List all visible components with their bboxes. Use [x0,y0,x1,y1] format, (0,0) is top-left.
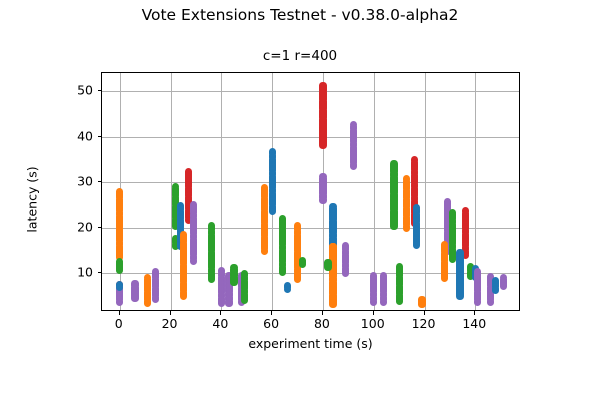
y-tick-label: 20 [68,219,93,234]
gridline-y [102,137,519,138]
x-tick-mark [271,311,272,315]
x-tick-label: 120 [412,316,436,331]
gridline-x [425,73,426,310]
plot-area [101,72,520,311]
y-tick-mark [98,227,102,228]
x-tick-label: 140 [462,316,486,331]
data-point [324,263,331,270]
data-point [342,270,349,277]
data-point [390,223,397,230]
y-tick-label: 10 [68,265,93,280]
x-tick-label: 0 [115,316,123,331]
data-point [152,296,159,303]
data-point [279,269,286,276]
data-point [329,301,336,308]
data-point [350,163,357,170]
data-point [116,299,123,306]
chart-subtitle: c=1 r=400 [0,48,600,64]
x-tick-label: 40 [212,316,228,331]
x-tick-mark [170,311,171,315]
x-tick-mark [424,311,425,315]
y-tick-mark [98,181,102,182]
data-point [131,295,138,302]
y-tick-label: 50 [68,83,93,98]
data-point [190,258,197,265]
data-point [441,275,448,282]
chart-title: Vote Extensions Testnet - v0.38.0-alpha2 [0,6,600,24]
x-tick-mark [322,311,323,315]
x-axis-label: experiment time (s) [101,336,520,351]
data-point [241,297,248,304]
x-tick-mark [119,311,120,315]
data-point [492,287,499,294]
data-point [500,282,507,289]
data-point [319,141,326,148]
data-point [284,286,291,293]
x-tick-label: 80 [314,316,330,331]
x-tick-mark [474,311,475,315]
data-point [380,299,387,306]
y-tick-label: 40 [68,128,93,143]
data-point [299,261,306,268]
x-tick-label: 60 [263,316,279,331]
data-point [261,248,268,255]
y-axis-label: latency (s) [25,130,40,270]
x-tick-label: 20 [162,316,178,331]
data-point [180,292,187,299]
y-tick-mark [98,136,102,137]
data-point [230,279,237,286]
data-point [329,249,336,256]
data-point [418,301,425,308]
data-point [269,208,276,215]
data-point [294,276,301,283]
figure-canvas: Vote Extensions Testnet - v0.38.0-alpha2… [0,0,600,400]
x-tick-label: 100 [361,316,385,331]
data-point [487,299,494,306]
gridline-y [102,91,519,92]
data-point [449,256,456,263]
y-tick-mark [98,90,102,91]
gridline-y [102,182,519,183]
y-tick-label: 30 [68,174,93,189]
data-point [225,300,232,307]
data-point [474,299,481,306]
data-point [403,225,410,232]
data-point [208,276,215,283]
data-point [396,298,403,305]
data-point [144,300,151,307]
data-point [218,300,225,307]
y-tick-mark [98,272,102,273]
data-point [319,197,326,204]
data-point [370,299,377,306]
data-point [456,292,463,299]
x-tick-mark [220,311,221,315]
data-point [413,241,420,248]
gridline-y [102,228,519,229]
x-tick-mark [373,311,374,315]
